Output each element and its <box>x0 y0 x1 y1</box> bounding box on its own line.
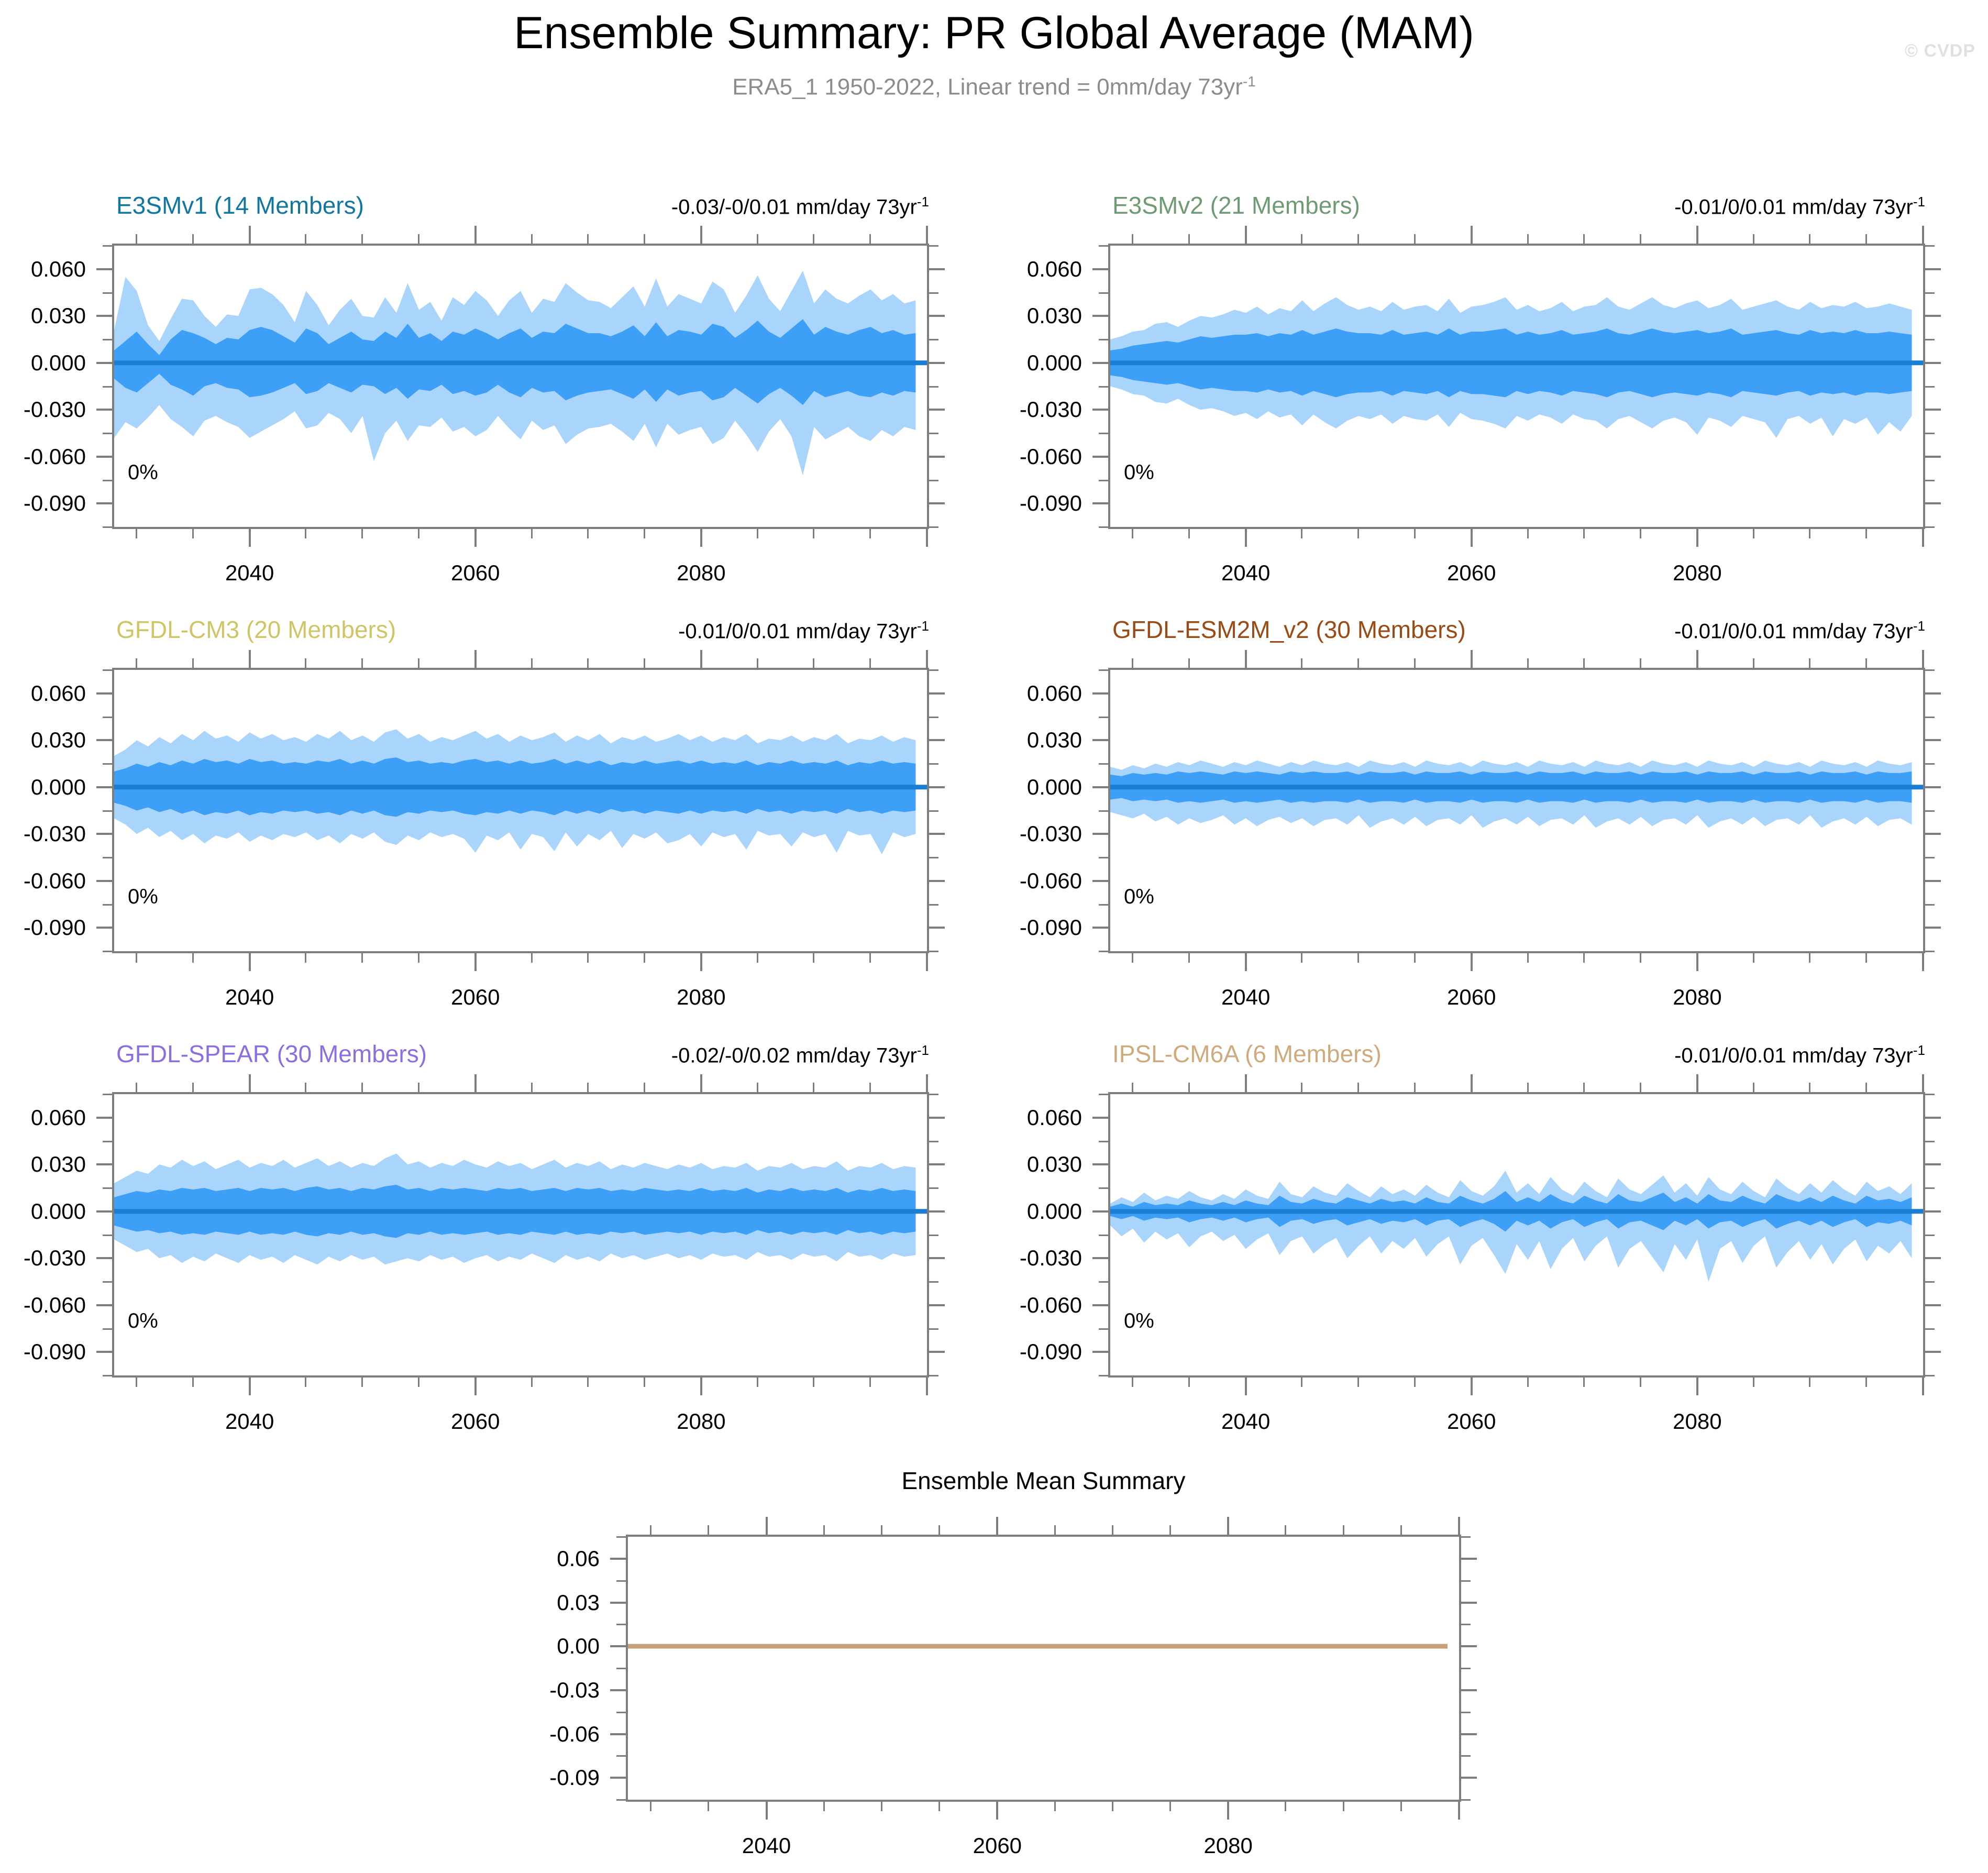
y-tick-minor <box>1099 717 1108 718</box>
plot-area-e3smv1 <box>112 244 929 529</box>
y-axis-label: 0.000 <box>0 1199 86 1224</box>
summary-y-tick-minor-right <box>1461 1624 1471 1625</box>
y-tick-minor-right <box>1925 1281 1935 1283</box>
y-tick-major <box>1092 927 1108 929</box>
percent-label: 0% <box>128 1309 158 1333</box>
x-axis-label: 2040 <box>225 985 274 1010</box>
y-tick-minor-right <box>929 857 938 858</box>
x-axis-label: 2080 <box>1673 1409 1721 1434</box>
x-tick-minor-top <box>1753 234 1754 244</box>
y-tick-major <box>96 1257 112 1259</box>
summary-x-tick-major-top <box>1227 1517 1229 1535</box>
y-tick-minor <box>1099 763 1108 765</box>
y-tick-minor-right <box>1925 669 1935 671</box>
y-tick-minor <box>1099 433 1108 434</box>
subtitle-superscript: -1 <box>1243 73 1256 90</box>
x-tick-major <box>249 529 251 547</box>
x-tick-minor <box>869 529 871 538</box>
y-tick-minor-right <box>929 1375 938 1376</box>
outer-range-band <box>114 729 915 854</box>
panel-trend-gfdl-esm2m-v2: -0.01/0/0.01 mm/day 73yr-1 <box>1538 618 1925 643</box>
y-tick-minor-right <box>1925 951 1935 952</box>
summary-x-tick-major <box>1458 1802 1460 1820</box>
y-axis-label: 0.060 <box>951 681 1082 706</box>
x-tick-minor-top <box>1357 234 1359 244</box>
y-axis-label: 0.030 <box>951 728 1082 753</box>
x-axis-label: 2040 <box>1221 560 1270 586</box>
inner-quartile-band <box>1110 772 1912 803</box>
x-tick-minor-top <box>1640 658 1641 668</box>
summary-x-tick-minor <box>1169 1802 1171 1811</box>
y-tick-minor <box>1099 1141 1108 1142</box>
summary-y-axis-label: 0.00 <box>479 1634 600 1659</box>
x-tick-minor <box>418 953 419 963</box>
y-tick-major <box>1092 1163 1108 1165</box>
y-tick-minor <box>103 1328 112 1330</box>
x-tick-minor-top <box>418 234 419 244</box>
inner-quartile-band <box>1110 328 1912 397</box>
x-tick-minor-top <box>1188 234 1190 244</box>
x-tick-minor <box>1527 529 1529 538</box>
y-axis-label: -0.030 <box>0 397 86 422</box>
summary-x-tick-minor-top <box>1343 1525 1344 1535</box>
x-tick-major <box>700 529 702 547</box>
percent-label: 0% <box>1124 885 1154 909</box>
summary-x-tick-major <box>1227 1802 1229 1820</box>
x-tick-minor-top <box>757 658 758 668</box>
x-tick-minor-top <box>1865 234 1867 244</box>
x-tick-minor <box>531 529 533 538</box>
y-tick-minor-right <box>929 1328 938 1330</box>
y-tick-major <box>96 268 112 270</box>
y-tick-major-right <box>1925 1304 1941 1306</box>
x-tick-minor <box>305 529 306 538</box>
x-tick-minor <box>1809 953 1810 963</box>
x-tick-minor <box>813 529 814 538</box>
summary-y-tick-minor-right <box>1461 1580 1471 1582</box>
x-tick-major <box>1922 1378 1924 1395</box>
x-tick-minor-top <box>361 234 363 244</box>
y-tick-minor <box>1099 1375 1108 1376</box>
plot-area-e3smv2 <box>1108 244 1925 529</box>
y-tick-minor-right <box>929 904 938 906</box>
y-tick-major <box>96 1117 112 1119</box>
panel-title-ipsl-cm6a: IPSL-CM6A (6 Members) <box>1112 1040 1382 1068</box>
y-tick-major-right <box>929 1210 945 1213</box>
y-tick-major-right <box>929 1257 945 1259</box>
x-tick-minor-top <box>1414 1083 1416 1092</box>
x-tick-major <box>1696 1378 1698 1395</box>
summary-x-tick-minor-top <box>823 1525 825 1535</box>
x-tick-minor <box>1132 1378 1133 1387</box>
y-tick-minor <box>1099 526 1108 528</box>
plot-area-ipsl-cm6a <box>1108 1092 1925 1378</box>
panel-title-e3smv2: E3SMv2 (21 Members) <box>1112 191 1360 219</box>
y-tick-minor <box>103 857 112 858</box>
x-tick-major-top <box>474 226 477 244</box>
x-tick-major <box>474 529 477 547</box>
summary-x-tick-minor-top <box>1169 1525 1171 1535</box>
y-axis-label: -0.030 <box>0 1246 86 1271</box>
trend-superscript: -1 <box>1913 194 1925 210</box>
x-tick-minor <box>1527 1378 1529 1387</box>
summary-x-axis-label: 2080 <box>1203 1833 1252 1858</box>
x-tick-minor-top <box>305 1083 306 1092</box>
x-tick-minor <box>869 1378 871 1387</box>
y-tick-minor-right <box>929 1141 938 1142</box>
y-tick-major <box>96 692 112 695</box>
y-tick-major-right <box>929 786 945 788</box>
y-axis-label: 0.000 <box>951 1199 1082 1224</box>
y-tick-major <box>1092 268 1108 270</box>
y-tick-major-right <box>929 456 945 458</box>
x-tick-minor <box>1583 529 1585 538</box>
summary-y-tick-major-right <box>1461 1558 1477 1560</box>
y-tick-major <box>1092 786 1108 788</box>
x-tick-major <box>249 1378 251 1395</box>
y-tick-minor-right <box>1925 433 1935 434</box>
y-tick-minor-right <box>929 763 938 765</box>
y-axis-label: 0.000 <box>0 350 86 376</box>
x-tick-minor <box>1865 953 1867 963</box>
summary-y-tick-major <box>610 1777 626 1779</box>
outer-range-band <box>114 271 915 476</box>
y-tick-major <box>96 833 112 835</box>
summary-x-tick-minor-top <box>881 1525 882 1535</box>
summary-x-tick-minor-top <box>1400 1525 1402 1535</box>
y-tick-major <box>1092 409 1108 411</box>
x-tick-minor-top <box>1132 234 1133 244</box>
y-axis-label: -0.060 <box>0 444 86 469</box>
x-tick-minor-top <box>1188 1083 1190 1092</box>
summary-x-tick-major <box>996 1802 998 1820</box>
y-tick-minor-right <box>1925 480 1935 481</box>
y-tick-minor-right <box>1925 1328 1935 1330</box>
y-tick-major-right <box>1925 1257 1941 1259</box>
summary-x-tick-minor <box>1343 1802 1344 1811</box>
y-tick-major <box>1092 456 1108 458</box>
y-tick-major <box>96 1210 112 1213</box>
y-axis-label: 0.060 <box>0 257 86 282</box>
summary-y-tick-major <box>610 1733 626 1735</box>
inner-quartile-band <box>114 1185 915 1238</box>
y-tick-minor <box>103 433 112 434</box>
summary-x-tick-major <box>766 1802 768 1820</box>
x-tick-minor-top <box>531 234 533 244</box>
y-axis-label: -0.090 <box>951 1339 1082 1364</box>
x-tick-minor-top <box>192 1083 194 1092</box>
x-tick-minor <box>644 953 645 963</box>
x-axis-label: 2060 <box>1447 1409 1496 1434</box>
y-tick-minor-right <box>929 669 938 671</box>
x-tick-minor <box>192 1378 194 1387</box>
summary-y-tick-major <box>610 1602 626 1604</box>
x-tick-minor <box>305 1378 306 1387</box>
inner-quartile-band <box>114 319 915 405</box>
y-tick-minor-right <box>929 717 938 718</box>
x-tick-minor <box>869 953 871 963</box>
x-tick-minor <box>644 529 645 538</box>
x-tick-minor-top <box>361 1083 363 1092</box>
summary-x-axis-label: 2060 <box>973 1833 1022 1858</box>
x-axis-label: 2060 <box>451 985 500 1010</box>
y-tick-major-right <box>1925 362 1941 364</box>
x-tick-major-top <box>1471 650 1473 668</box>
y-tick-major-right <box>929 833 945 835</box>
x-tick-minor <box>1357 529 1359 538</box>
y-tick-major-right <box>1925 409 1941 411</box>
x-tick-minor-top <box>813 658 814 668</box>
x-tick-minor-top <box>1414 234 1416 244</box>
y-tick-minor <box>103 904 112 906</box>
y-tick-major-right <box>1925 1163 1941 1165</box>
y-tick-major-right <box>1925 1210 1941 1213</box>
y-tick-minor-right <box>1925 717 1935 718</box>
y-tick-minor <box>1099 810 1108 812</box>
summary-y-tick-minor-right <box>1461 1755 1471 1757</box>
x-tick-major-top <box>700 650 702 668</box>
x-tick-minor-top <box>1583 658 1585 668</box>
y-tick-minor <box>1099 339 1108 340</box>
y-tick-minor <box>103 810 112 812</box>
y-tick-minor-right <box>929 1281 938 1283</box>
y-tick-major <box>1092 1117 1108 1119</box>
summary-x-tick-minor <box>708 1802 709 1811</box>
subtitle-text: ERA5_1 1950-2022, Linear trend = 0mm/day… <box>732 74 1243 100</box>
y-tick-major <box>96 739 112 741</box>
x-axis-label: 2040 <box>225 1409 274 1434</box>
x-axis-label: 2040 <box>1221 985 1270 1010</box>
summary-y-tick-minor <box>616 1580 626 1582</box>
trend-text: -0.03/-0/0.01 mm/day 73yr <box>671 195 917 218</box>
x-tick-minor <box>757 1378 758 1387</box>
y-axis-label: -0.090 <box>951 491 1082 516</box>
inner-quartile-band <box>114 757 915 817</box>
x-tick-major-top <box>1245 226 1247 244</box>
summary-y-tick-major-right <box>1461 1777 1477 1779</box>
x-tick-minor-top <box>1640 1083 1641 1092</box>
summary-x-tick-minor <box>1400 1802 1402 1811</box>
y-tick-minor-right <box>1925 1187 1935 1189</box>
y-tick-major <box>96 409 112 411</box>
summary-y-tick-major-right <box>1461 1645 1477 1647</box>
x-axis-label: 2040 <box>225 560 274 586</box>
x-tick-minor-top <box>1753 1083 1754 1092</box>
summary-x-tick-minor-top <box>1285 1525 1286 1535</box>
y-tick-major <box>96 786 112 788</box>
x-tick-major-top <box>1922 1074 1924 1092</box>
x-tick-minor <box>1583 953 1585 963</box>
trend-superscript: -1 <box>917 618 929 634</box>
y-tick-major <box>96 1351 112 1353</box>
summary-y-tick-minor-right <box>1461 1712 1471 1713</box>
x-tick-minor-top <box>305 234 306 244</box>
y-tick-minor <box>1099 951 1108 952</box>
x-tick-minor <box>813 953 814 963</box>
x-tick-minor-top <box>418 1083 419 1092</box>
y-axis-label: -0.060 <box>951 1293 1082 1318</box>
panel-title-gfdl-spear: GFDL-SPEAR (30 Members) <box>116 1040 427 1068</box>
y-axis-label: -0.090 <box>951 915 1082 940</box>
trend-superscript: -1 <box>1913 1042 1925 1058</box>
y-tick-major-right <box>1925 502 1941 504</box>
y-tick-major-right <box>929 409 945 411</box>
x-tick-major-top <box>926 226 928 244</box>
y-tick-minor <box>103 245 112 247</box>
x-tick-minor <box>1753 529 1754 538</box>
x-tick-minor-top <box>869 658 871 668</box>
x-tick-minor <box>1414 1378 1416 1387</box>
summary-x-tick-minor <box>881 1802 882 1811</box>
x-tick-minor-top <box>757 234 758 244</box>
x-tick-minor-top <box>644 1083 645 1092</box>
cvdp-watermark: © CVDP <box>1905 41 1975 61</box>
y-tick-minor-right <box>1925 1141 1935 1142</box>
outer-range-band <box>1110 1171 1912 1282</box>
x-tick-major <box>1245 529 1247 547</box>
x-tick-minor <box>305 953 306 963</box>
x-tick-major <box>1245 1378 1247 1395</box>
y-axis-label: -0.030 <box>0 821 86 846</box>
y-axis-label: 0.060 <box>951 1105 1082 1130</box>
y-tick-minor-right <box>1925 1094 1935 1095</box>
x-tick-minor-top <box>1301 658 1302 668</box>
x-tick-major-top <box>926 650 928 668</box>
summary-x-tick-minor-top <box>708 1525 709 1535</box>
y-tick-major-right <box>929 362 945 364</box>
x-tick-minor <box>136 1378 137 1387</box>
x-axis-label: 2080 <box>1673 985 1721 1010</box>
x-tick-major-top <box>1696 226 1698 244</box>
y-tick-minor-right <box>1925 1235 1935 1236</box>
y-tick-major-right <box>929 880 945 882</box>
summary-x-tick-minor <box>938 1802 940 1811</box>
y-tick-major <box>1092 1304 1108 1306</box>
y-tick-minor <box>1099 386 1108 388</box>
y-axis-label: -0.090 <box>0 915 86 940</box>
y-tick-major <box>96 927 112 929</box>
x-tick-minor <box>1583 1378 1585 1387</box>
y-tick-minor-right <box>1925 857 1935 858</box>
x-axis-label: 2040 <box>1221 1409 1270 1434</box>
x-tick-minor-top <box>1301 1083 1302 1092</box>
x-tick-major-top <box>249 1074 251 1092</box>
x-tick-minor <box>1809 1378 1810 1387</box>
x-tick-major <box>474 1378 477 1395</box>
plot-area-gfdl-esm2m-v2 <box>1108 668 1925 953</box>
y-tick-minor-right <box>1925 339 1935 340</box>
x-tick-minor <box>757 529 758 538</box>
percent-label: 0% <box>128 461 158 484</box>
x-tick-minor <box>1753 1378 1754 1387</box>
x-tick-major-top <box>1922 226 1924 244</box>
x-tick-minor-top <box>869 1083 871 1092</box>
y-tick-major <box>1092 1210 1108 1213</box>
y-tick-minor <box>103 669 112 671</box>
x-tick-major-top <box>1696 650 1698 668</box>
x-tick-minor-top <box>1809 1083 1810 1092</box>
x-tick-minor <box>1132 953 1133 963</box>
y-axis-label: 0.030 <box>951 1152 1082 1177</box>
summary-y-tick-major-right <box>1461 1602 1477 1604</box>
y-tick-minor <box>103 1375 112 1376</box>
x-tick-major-top <box>1471 1074 1473 1092</box>
y-tick-minor-right <box>929 292 938 294</box>
outer-range-band <box>1110 761 1912 828</box>
panel-trend-e3smv2: -0.01/0/0.01 mm/day 73yr-1 <box>1538 194 1925 219</box>
page-subtitle: ERA5_1 1950-2022, Linear trend = 0mm/day… <box>0 73 1988 101</box>
y-tick-major <box>96 1304 112 1306</box>
x-tick-minor <box>1640 529 1641 538</box>
summary-y-tick-minor <box>616 1712 626 1713</box>
y-tick-minor <box>1099 904 1108 906</box>
summary-y-axis-label: -0.09 <box>479 1765 600 1790</box>
y-tick-minor-right <box>929 245 938 247</box>
trend-superscript: -1 <box>917 1042 929 1058</box>
y-axis-label: -0.030 <box>951 397 1082 422</box>
x-tick-minor <box>192 529 194 538</box>
y-tick-major <box>96 362 112 364</box>
x-tick-minor-top <box>1865 658 1867 668</box>
x-tick-minor-top <box>1527 658 1529 668</box>
summary-y-tick-minor-right <box>1461 1799 1471 1801</box>
x-tick-major-top <box>926 1074 928 1092</box>
x-tick-minor-top <box>418 658 419 668</box>
x-tick-minor-top <box>1188 658 1190 668</box>
y-axis-label: -0.090 <box>0 1339 86 1364</box>
summary-x-axis-label: 2040 <box>742 1833 791 1858</box>
y-tick-major-right <box>929 739 945 741</box>
summary-y-tick-minor-right <box>1461 1668 1471 1669</box>
x-tick-major-top <box>474 1074 477 1092</box>
x-tick-minor-top <box>136 658 137 668</box>
summary-y-axis-label: -0.03 <box>479 1678 600 1703</box>
x-tick-minor-top <box>531 658 533 668</box>
y-tick-major-right <box>1925 927 1941 929</box>
y-tick-major-right <box>1925 739 1941 741</box>
x-tick-minor-top <box>644 658 645 668</box>
x-tick-minor-top <box>1809 658 1810 668</box>
y-tick-major <box>1092 833 1108 835</box>
x-tick-minor <box>1865 529 1867 538</box>
x-tick-major-top <box>1471 226 1473 244</box>
y-axis-label: -0.060 <box>951 444 1082 469</box>
trend-superscript: -1 <box>1913 618 1925 634</box>
plot-area-gfdl-cm3 <box>112 668 929 953</box>
x-tick-minor <box>531 1378 533 1387</box>
x-tick-minor-top <box>813 234 814 244</box>
x-tick-minor <box>1357 953 1359 963</box>
y-axis-label: 0.000 <box>951 775 1082 800</box>
x-tick-major <box>926 1378 928 1395</box>
y-tick-minor <box>103 717 112 718</box>
x-tick-minor <box>1188 1378 1190 1387</box>
y-tick-minor-right <box>929 951 938 952</box>
y-tick-minor-right <box>1925 292 1935 294</box>
x-tick-minor-top <box>305 658 306 668</box>
y-tick-major-right <box>929 692 945 695</box>
x-tick-minor <box>1865 1378 1867 1387</box>
y-tick-minor-right <box>1925 245 1935 247</box>
x-tick-major <box>1471 529 1473 547</box>
outer-range-band <box>114 1153 915 1264</box>
x-tick-minor <box>361 953 363 963</box>
x-axis-label: 2080 <box>677 560 725 586</box>
percent-label: 0% <box>1124 461 1154 484</box>
x-tick-minor <box>136 953 137 963</box>
x-tick-minor <box>361 529 363 538</box>
y-tick-major-right <box>1925 880 1941 882</box>
